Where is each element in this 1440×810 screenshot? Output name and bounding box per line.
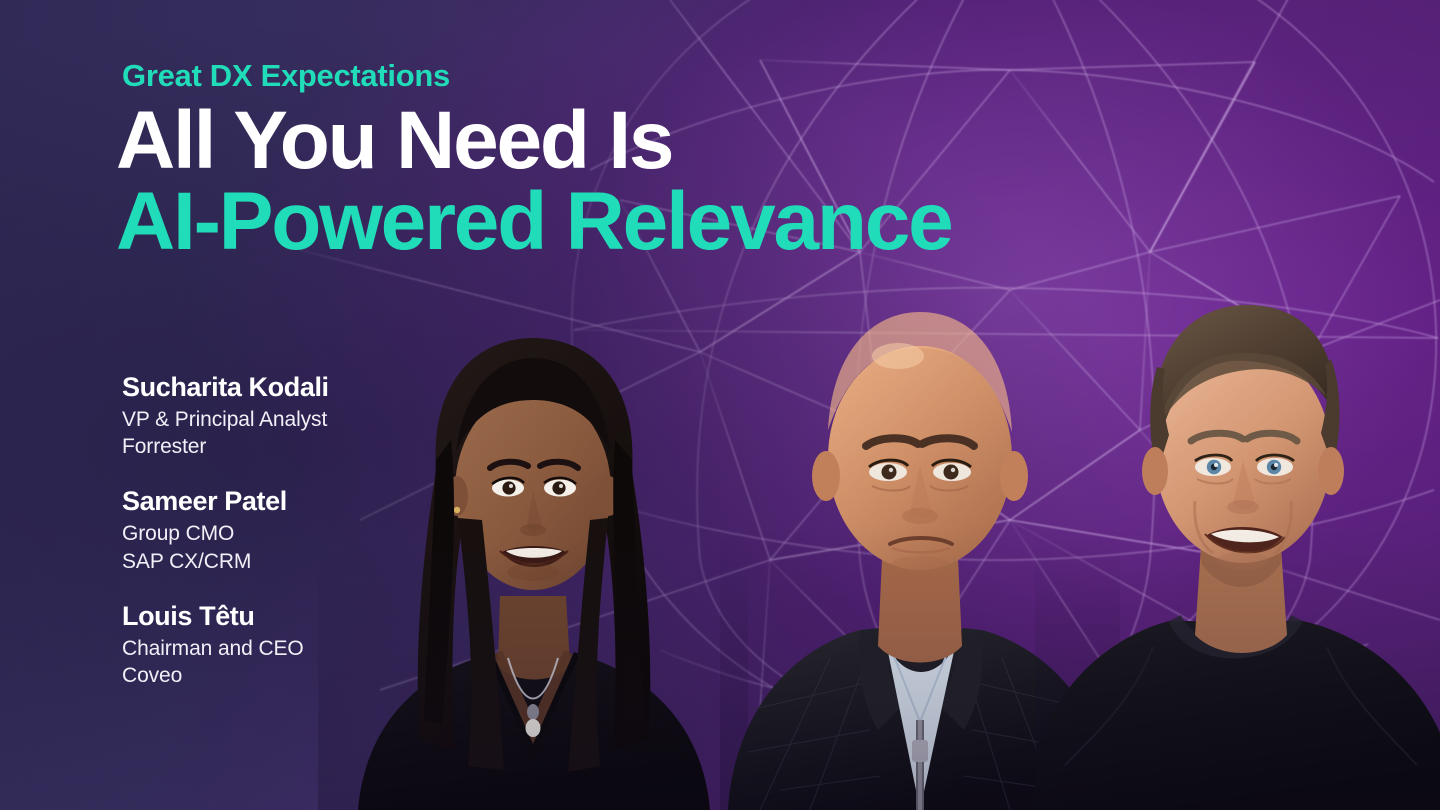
speaker-photo-louis-tetu bbox=[1035, 295, 1440, 810]
speaker-photo-group bbox=[0, 0, 1440, 810]
photo-bottom-fade bbox=[1035, 527, 1440, 810]
speaker-photo-sucharita-kodali bbox=[318, 320, 748, 810]
photo-bottom-fade bbox=[318, 541, 748, 810]
webinar-promo-banner: Great DX Expectations All You Need Is AI… bbox=[0, 0, 1440, 810]
